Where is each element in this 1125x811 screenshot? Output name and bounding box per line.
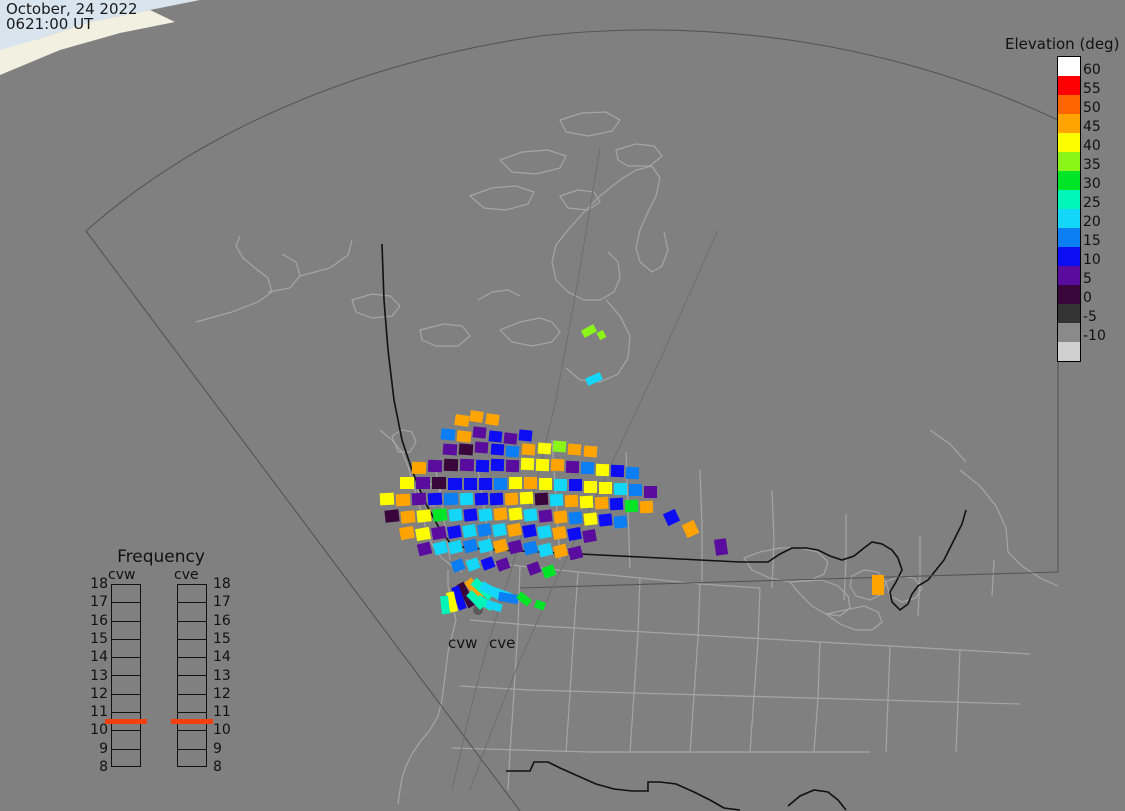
elevation-cell (509, 477, 522, 489)
elevation-cell (428, 493, 443, 506)
frequency-cell (112, 695, 140, 713)
elevation-cell (396, 494, 411, 507)
colorbar-band-4 (1058, 133, 1080, 152)
elevation-cell (584, 446, 598, 458)
colorbar-tick-60: 60 (1083, 63, 1123, 77)
elevation-cell (399, 526, 415, 540)
frequency-cell (178, 640, 206, 658)
colorbar-tick-55: 55 (1083, 82, 1123, 96)
elevation-cell (456, 430, 471, 442)
elevation-cell (538, 443, 552, 455)
frequency-cell (112, 676, 140, 694)
colorbar-title: Elevation (deg) (1005, 36, 1119, 52)
colorbar-band-13 (1058, 304, 1080, 323)
elevation-cell (566, 461, 579, 473)
elevation-cell (416, 509, 431, 522)
elevation-cell (431, 526, 447, 540)
radar-site-label-cve: cve (489, 636, 515, 651)
frequency-scale-label-13: 13 (84, 669, 108, 683)
frequency-cell (112, 585, 140, 603)
colorbar-tick-45: 45 (1083, 120, 1123, 134)
frequency-cell (178, 585, 206, 603)
elevation-cell (524, 477, 537, 489)
elevation-cell (568, 444, 582, 456)
frequency-cell (178, 622, 206, 640)
elevation-cell (611, 465, 624, 477)
colorbar-band-8 (1058, 209, 1080, 228)
elevation-cell (518, 429, 532, 441)
frequency-cell (112, 622, 140, 640)
elevation-cell (454, 414, 469, 427)
elevation-cell (537, 525, 552, 539)
frequency-marker-cvw (105, 719, 147, 724)
elevation-cell (493, 507, 507, 520)
elevation-cell (584, 481, 597, 493)
elevation-cell (447, 525, 462, 539)
frequency-cell (178, 695, 206, 713)
elevation-cell (567, 527, 582, 541)
frequency-box-cvw (111, 584, 141, 767)
elevation-cell (462, 524, 477, 538)
frequency-scale-label-18: 18 (213, 577, 237, 591)
elevation-cell (535, 493, 549, 506)
superdarn-elevation-plot: October, 24 2022 0621:00 UT Elevation (d… (0, 0, 1125, 811)
elevation-cell (448, 508, 462, 521)
elevation-cell (459, 444, 474, 456)
elevation-cell (475, 493, 489, 506)
frequency-scale-labels-left: 18171615141312111098 (84, 584, 110, 767)
frequency-column-header-cve: cve (174, 568, 199, 583)
elevation-cell (412, 493, 427, 506)
elevation-cell (428, 460, 442, 472)
elevation-cell (569, 479, 582, 491)
colorbar-tick-10: 10 (1083, 253, 1123, 267)
elevation-cell (583, 512, 597, 525)
frequency-scale-label-16: 16 (84, 614, 108, 628)
elevation-cell (491, 444, 505, 456)
elevation-cell (536, 459, 549, 471)
elevation-cell (432, 477, 446, 489)
elevation-cell (478, 508, 492, 521)
elevation-cell (415, 527, 431, 541)
elevation-cell (475, 442, 489, 454)
elevation-cell (582, 529, 597, 543)
colorbar-tick-50: 50 (1083, 101, 1123, 115)
elevation-cell (463, 508, 477, 521)
elevation-cell (599, 482, 612, 494)
colorbar-band-10 (1058, 247, 1080, 266)
elevation-cell (506, 460, 519, 472)
timestamp-time: 0621:00 UT (6, 17, 138, 32)
frequency-cell (112, 658, 140, 676)
colorbar-gradient (1057, 56, 1081, 362)
elevation-cell (507, 523, 522, 537)
frequency-scale-label-9: 9 (84, 742, 108, 756)
elevation-cell (538, 509, 552, 522)
frequency-scale-label-8: 8 (84, 760, 108, 774)
elevation-cell (477, 523, 492, 537)
frequency-scale-label-14: 14 (84, 650, 108, 664)
frequency-cell (178, 676, 206, 694)
elevation-cell (380, 493, 395, 506)
elevation-cell (552, 526, 567, 540)
frequency-cell (178, 603, 206, 621)
timestamp-block: October, 24 2022 0621:00 UT (6, 2, 138, 32)
colorbar-band-5 (1058, 152, 1080, 171)
elevation-cell (640, 501, 654, 514)
colorbar-wrap: 605550454035302520151050-5-10 (1057, 56, 1119, 362)
elevation-cell (400, 477, 414, 489)
frequency-scale-label-15: 15 (84, 632, 108, 646)
elevation-cell (444, 493, 459, 506)
elevation-cell (521, 458, 534, 470)
elevation-cell (714, 538, 728, 556)
colorbar-band-3 (1058, 114, 1080, 133)
frequency-scale-label-13: 13 (213, 669, 237, 683)
frequency-marker-cve (171, 719, 213, 724)
colorbar-band-7 (1058, 190, 1080, 209)
frequency-scale-labels-right: 18171615141312111098 (209, 584, 235, 767)
colorbar-band-2 (1058, 95, 1080, 114)
elevation-cell (469, 410, 483, 423)
radar-site-label-cvw: cvw (448, 636, 477, 651)
elevation-cell (472, 426, 486, 438)
elevation-cell (520, 492, 534, 505)
colorbar-band-11 (1058, 266, 1080, 285)
elevation-cell (492, 523, 507, 537)
elevation-cell (596, 464, 609, 476)
colorbar-tick-15: 15 (1083, 234, 1123, 248)
frequency-scale-label-10: 10 (84, 723, 108, 737)
frequency-scale-label-15: 15 (213, 632, 237, 646)
colorbar-band-6 (1058, 171, 1080, 190)
elevation-cell (553, 510, 567, 523)
elevation-colorbar-panel: Elevation (deg) 605550454035302520151050… (1003, 36, 1119, 362)
elevation-cell (523, 508, 537, 521)
frequency-scale-label-11: 11 (84, 705, 108, 719)
frequency-cell (112, 640, 140, 658)
frequency-scale-label-14: 14 (213, 650, 237, 664)
elevation-cell (550, 494, 564, 507)
colorbar-band-9 (1058, 228, 1080, 247)
frequency-cell (112, 750, 140, 768)
elevation-cell (460, 493, 474, 506)
elevation-cell (598, 513, 612, 526)
colorbar-tick-0: 0 (1083, 291, 1123, 305)
elevation-cell (416, 477, 430, 489)
elevation-cell (522, 444, 536, 456)
elevation-cell (494, 478, 507, 490)
elevation-cell (553, 441, 567, 453)
colorbar-tick-30: 30 (1083, 177, 1123, 191)
colorbar-band-15 (1058, 342, 1080, 361)
frequency-scale-label-12: 12 (213, 687, 237, 701)
frequency-cell (178, 750, 206, 768)
elevation-cell (626, 467, 639, 479)
elevation-cell (384, 509, 399, 522)
elevation-cell (872, 575, 884, 595)
frequency-cell (112, 731, 140, 749)
elevation-cell (629, 484, 642, 496)
elevation-cell (565, 495, 579, 508)
frequency-scale-label-16: 16 (213, 614, 237, 628)
elevation-cell (503, 432, 517, 444)
elevation-cell (443, 444, 458, 456)
frequency-cell (178, 731, 206, 749)
elevation-cell (644, 486, 657, 498)
frequency-scale-label-17: 17 (84, 595, 108, 609)
elevation-cell (444, 459, 458, 471)
frequency-cell (112, 603, 140, 621)
elevation-cell (614, 483, 627, 495)
frequency-legend-panel: Frequency cvw cve 18171615141312111098 1… (92, 548, 242, 774)
elevation-cell (580, 496, 594, 509)
colorbar-tick-25: 25 (1083, 196, 1123, 210)
elevation-cell (595, 497, 609, 510)
elevation-cell (464, 478, 477, 490)
frequency-box-cve (177, 584, 207, 767)
elevation-cell (554, 479, 567, 491)
colorbar-band-1 (1058, 76, 1080, 95)
elevation-cell (613, 515, 627, 528)
elevation-cell (476, 460, 489, 472)
elevation-cell (522, 524, 537, 538)
frequency-scale-label-9: 9 (213, 742, 237, 756)
elevation-cell (625, 500, 639, 513)
frequency-legend-title: Frequency (88, 548, 234, 566)
colorbar-tick--10: -10 (1083, 329, 1123, 343)
elevation-cell (432, 508, 447, 521)
colorbar-tick-labels: 605550454035302520151050-5-10 (1083, 56, 1125, 360)
frequency-scale-label-10: 10 (213, 723, 237, 737)
elevation-cell (488, 430, 502, 442)
frequency-scale-label-11: 11 (213, 705, 237, 719)
colorbar-band-12 (1058, 285, 1080, 304)
elevation-cell (581, 462, 594, 474)
elevation-cell (568, 511, 582, 524)
colorbar-tick-35: 35 (1083, 158, 1123, 172)
frequency-cell (178, 658, 206, 676)
elevation-cell (508, 507, 522, 520)
elevation-cell (539, 478, 552, 490)
elevation-cell (479, 478, 492, 490)
elevation-cell (490, 493, 504, 506)
colorbar-band-14 (1058, 323, 1080, 342)
colorbar-tick-40: 40 (1083, 139, 1123, 153)
elevation-cell (491, 459, 504, 471)
frequency-scale-label-8: 8 (213, 760, 237, 774)
frequency-scale-label-12: 12 (84, 687, 108, 701)
frequency-column-header-cvw: cvw (108, 568, 135, 583)
elevation-cell (440, 428, 455, 440)
colorbar-tick-20: 20 (1083, 215, 1123, 229)
elevation-cell (485, 413, 499, 426)
elevation-cell (551, 459, 564, 471)
frequency-scale-label-17: 17 (213, 595, 237, 609)
colorbar-tick-5: 5 (1083, 272, 1123, 286)
elevation-cell (400, 510, 415, 523)
colorbar-band-0 (1058, 57, 1080, 76)
elevation-cell (610, 498, 624, 511)
elevation-cell (506, 446, 520, 458)
frequency-legend-boxes: 18171615141312111098 1817161514131211109… (92, 584, 242, 774)
colorbar-tick--5: -5 (1083, 310, 1123, 324)
elevation-cell (460, 459, 474, 471)
elevation-cell (448, 478, 462, 490)
frequency-scale-label-18: 18 (84, 577, 108, 591)
elevation-cell (505, 493, 519, 506)
elevation-cell (412, 462, 426, 474)
